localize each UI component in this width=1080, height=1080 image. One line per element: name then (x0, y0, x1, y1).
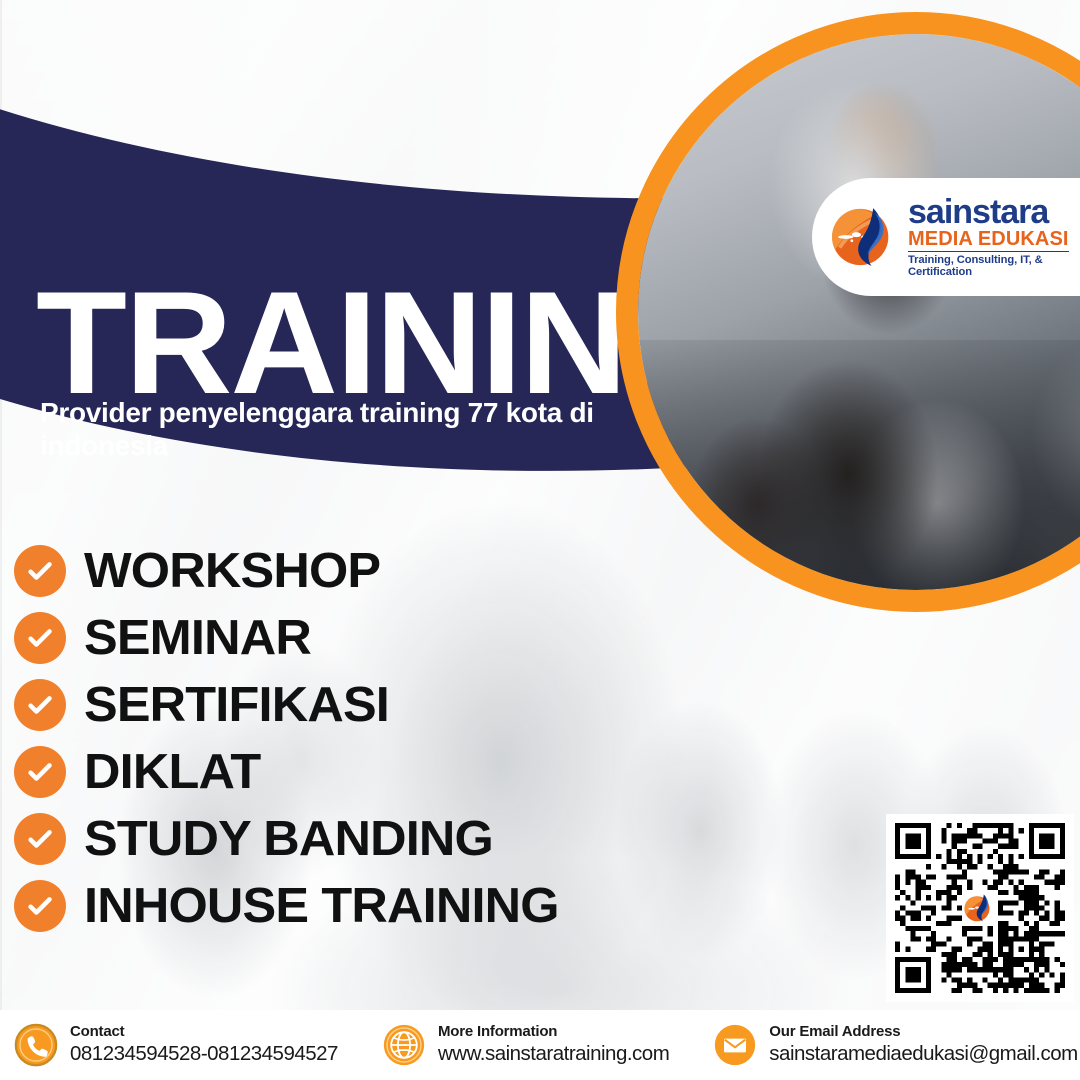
list-item[interactable]: SEMINAR (14, 605, 654, 670)
hero-circle-photo (616, 12, 1080, 612)
qr-code[interactable] (886, 814, 1074, 1002)
footer-website-text: More Information www.sainstaratraining.c… (438, 1023, 669, 1066)
check-circle-icon (14, 679, 66, 731)
envelope-icon (713, 1023, 757, 1067)
list-item[interactable]: DIKLAT (14, 739, 654, 804)
list-item-label: SEMINAR (84, 610, 311, 666)
check-circle-icon (14, 612, 66, 664)
footer-website-title: More Information (438, 1023, 669, 1042)
brand-logo-badge: sainstara MEDIA EDUKASI Training, Consul… (812, 178, 1080, 296)
logo-tagline: Training, Consulting, IT, & Certificatio… (908, 254, 1080, 278)
list-item-label: WORKSHOP (84, 543, 380, 599)
check-circle-icon (14, 746, 66, 798)
footer-contact-block[interactable]: Contact 081234594528-081234594527 (14, 1023, 338, 1067)
list-item[interactable]: WORKSHOP (14, 538, 654, 603)
footer-email-title: Our Email Address (769, 1023, 1077, 1042)
list-item[interactable]: SERTIFIKASI (14, 672, 654, 737)
footer-email-block[interactable]: Our Email Address sainstaramediaedukasi@… (713, 1023, 1077, 1067)
logo-subtitle: MEDIA EDUKASI (908, 228, 1069, 252)
list-item-label: DIKLAT (84, 744, 260, 800)
list-item[interactable]: STUDY BANDING (14, 806, 654, 871)
globe-icon (382, 1023, 426, 1067)
services-list: WORKSHOP SEMINAR SERTIFIKASI DIKLAT STUD… (14, 538, 654, 940)
logo-name: sainstara (908, 196, 1080, 228)
check-circle-icon (14, 813, 66, 865)
training-promo-poster: TRAINING Provider penyelenggara training… (0, 0, 1080, 1080)
flame-indonesia-map-icon (826, 199, 902, 275)
list-item[interactable]: INHOUSE TRAINING (14, 873, 654, 938)
footer-email-text: Our Email Address sainstaramediaedukasi@… (769, 1023, 1077, 1066)
list-item-label: STUDY BANDING (84, 811, 493, 867)
list-item-label: INHOUSE TRAINING (84, 878, 559, 934)
logo-text-block: sainstara MEDIA EDUKASI Training, Consul… (908, 196, 1080, 278)
footer-contact-value: 081234594528-081234594527 (70, 1042, 338, 1067)
list-item-label: SERTIFIKASI (84, 677, 389, 733)
page-subtitle: Provider penyelenggara training 77 kota … (40, 396, 600, 462)
check-circle-icon (14, 545, 66, 597)
footer-contact-text: Contact 081234594528-081234594527 (70, 1023, 338, 1066)
sainstara-flame-icon (961, 889, 999, 927)
footer-email-value: sainstaramediaedukasi@gmail.com (769, 1042, 1077, 1067)
footer-website-value: www.sainstaratraining.com (438, 1042, 669, 1067)
footer-website-block[interactable]: More Information www.sainstaratraining.c… (382, 1023, 669, 1067)
check-circle-icon (14, 880, 66, 932)
footer-contact-title: Contact (70, 1023, 338, 1042)
contact-footer-bar: Contact 081234594528-081234594527 More I… (0, 1010, 1080, 1080)
phone-icon (14, 1023, 58, 1067)
